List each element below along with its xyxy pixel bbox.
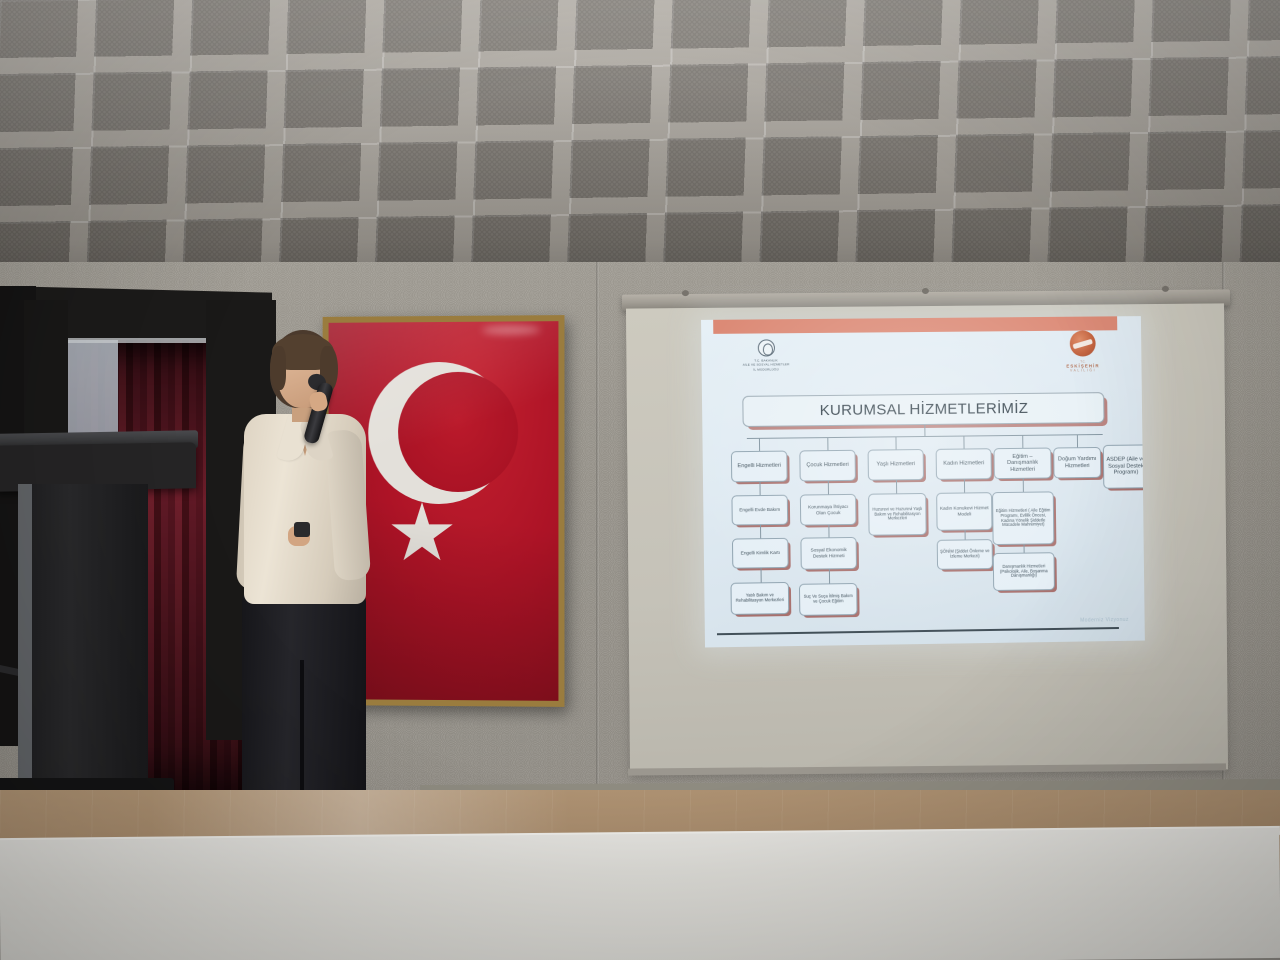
- chart-link: [827, 437, 828, 450]
- boom-mic-stand: [0, 332, 40, 344]
- chart-node-l1: Yaşlı Hizmetleri: [868, 449, 924, 481]
- ceiling-shading: [0, 0, 1280, 300]
- housing-bolt: [682, 290, 689, 296]
- ministry-logo: T.C. BAKANLIK AİLE VE SOSYAL HİZMETLER İ…: [734, 339, 799, 372]
- slide-footer-rule: [717, 627, 1119, 635]
- chart-link: [760, 525, 761, 538]
- stage-front-panel: [0, 828, 1280, 960]
- chart-link: [1023, 479, 1024, 492]
- chart-node-l2: Engelli Evde Bakım: [731, 495, 788, 526]
- lectern-body: [18, 484, 148, 784]
- acoustic-ceiling: [0, 0, 1280, 300]
- chart-link: [965, 530, 966, 539]
- chart-node-l1: Eğitim – Danışmanlık Hizmetleri: [993, 448, 1051, 480]
- chart-link: [1024, 545, 1025, 553]
- chart-link: [896, 480, 897, 493]
- housing-bolt: [922, 288, 929, 294]
- chart-link: [829, 569, 830, 583]
- chart-node-l1: Engelli Hizmetleri: [731, 451, 788, 483]
- chart-trunk: [924, 425, 925, 436]
- slide-title: KURUMSAL HİZMETLERİMİZ: [742, 392, 1104, 427]
- chart-node-l2: Kadın Konukevi Hizmet Modeli: [936, 492, 992, 531]
- chart-node-l1: ASDEP (Aile ve Sosyal Destek Programı): [1103, 444, 1145, 488]
- ministry-logo-line3: İL MÜDÜRLÜĞÜ: [734, 367, 798, 372]
- chart-node-l1: Kadın Hizmetleri: [936, 448, 992, 480]
- chart-link: [761, 568, 762, 582]
- chart-node-l2: Eğitim Hizmetleri ( Aile Eğitim Programı…: [992, 491, 1054, 545]
- photo-scene: T.C. BAKANLIK AİLE VE SOSYAL HİZMETLER İ…: [0, 0, 1280, 960]
- housing-bolt: [1162, 286, 1169, 292]
- chart-node-l1: Doğum Yardımı Hizmetleri: [1053, 447, 1101, 478]
- chart-link: [964, 479, 965, 492]
- projected-slide: T.C. BAKANLIK AİLE VE SOSYAL HİZMETLER İ…: [701, 316, 1145, 647]
- presenter-figure: [222, 330, 382, 830]
- chart-link: [963, 436, 964, 449]
- wall-seam-left: [596, 262, 599, 822]
- chart-link: [828, 481, 829, 494]
- presentation-clicker-icon: [294, 522, 310, 537]
- presenter-hair-left: [270, 346, 286, 390]
- chart-node-l2: Suç Ve Suça İtilmiş Bakım ve Çocuk Eğiti…: [799, 583, 858, 616]
- chart-node-l2: Danışmanlık Hizmetleri (Psikolojik, Aile…: [993, 552, 1055, 591]
- chart-node-l2: Huzurevi ve Huzurevi Yaşlı Bakım ve Reha…: [868, 493, 927, 536]
- chart-node-l1: Çocuk Hizmetleri: [799, 450, 856, 482]
- chart-node-l2: Yatılı Bakım ve Rehabilitasyon Merkezler…: [730, 582, 789, 615]
- chart-link: [895, 436, 896, 449]
- chart-link: [1077, 434, 1078, 447]
- chart-node-l2: Sosyal Ekonomik Destek Hizmeti: [800, 537, 857, 570]
- governorship-logo: T.C. ESKİŞEHİR VALİLİĞİ: [1048, 330, 1118, 373]
- chart-link: [759, 482, 760, 495]
- chart-node-l2: Korunmaya İhtiyacı Olan Çocuk: [800, 494, 857, 526]
- chart-node-l2: ŞÖNİM (Şiddet Önleme ve İzleme Merkezi): [937, 539, 993, 570]
- lectern-edge-trim: [18, 484, 32, 786]
- ministry-emblem-icon: [757, 339, 774, 356]
- chart-link: [759, 438, 760, 451]
- governorship-logo-line2: VALİLİĞİ: [1048, 368, 1118, 373]
- chart-node-l2: Engelli Kimlik Kartı: [732, 538, 789, 569]
- governorship-emblem-icon: [1070, 330, 1096, 356]
- chart-link: [828, 525, 829, 537]
- slide-watermark: Moderniz Vizyonuz: [1080, 617, 1129, 624]
- chart-link: [1022, 435, 1023, 448]
